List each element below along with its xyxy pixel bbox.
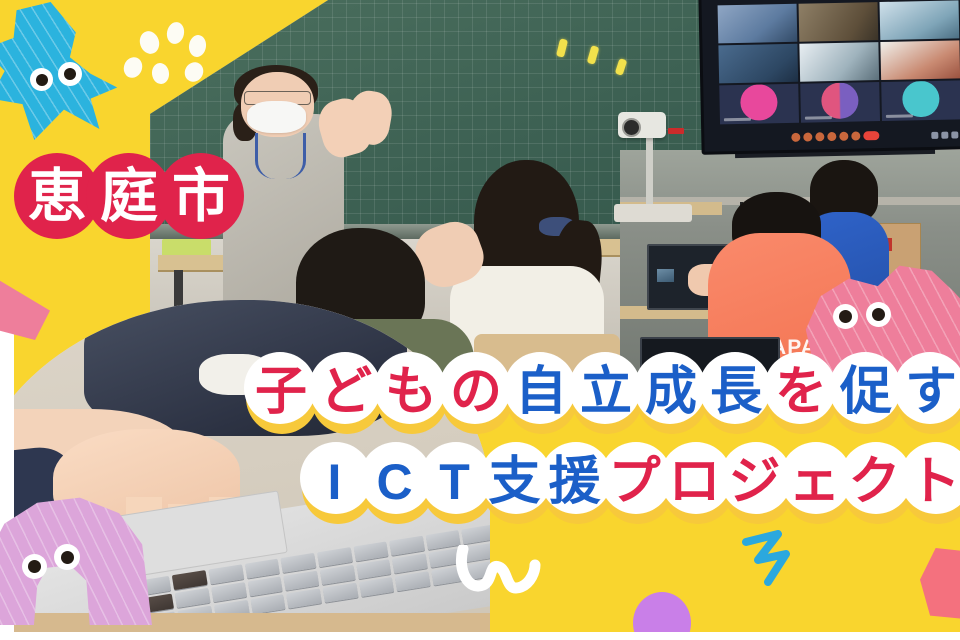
key [323, 582, 359, 602]
headline-char: 支 [480, 442, 549, 522]
video-tile [799, 42, 879, 82]
headline-char: ジ [720, 442, 789, 522]
end-call-icon[interactable] [863, 131, 879, 140]
more-icon[interactable] [851, 131, 860, 140]
settings-icon[interactable] [931, 132, 938, 139]
headline-char-glyph: C [376, 457, 412, 507]
headline-line-1: 子どもの自立成長を促す [0, 352, 960, 432]
headline-char: ク [840, 442, 909, 522]
headline-char-glyph: 立 [580, 366, 632, 418]
headline-char-glyph: 成 [645, 366, 697, 418]
headline-char: 自 [504, 352, 578, 432]
headline-char-glyph: 支 [488, 456, 540, 508]
headline-char: ロ [660, 442, 729, 522]
headline-char: I [300, 442, 369, 522]
badge-character: 市 [158, 153, 244, 239]
headline-char-glyph: ト [908, 456, 960, 508]
key [356, 559, 392, 579]
headline-char-glyph: ロ [668, 456, 720, 508]
key [320, 565, 356, 585]
headline-char: 子 [244, 352, 318, 432]
headline-char: ト [900, 442, 960, 522]
headline-char-glyph: プ [608, 456, 660, 508]
share-icon[interactable] [815, 132, 824, 141]
headline-char: 援 [540, 442, 609, 522]
fullscreen-icon[interactable] [951, 132, 958, 139]
headline-char: ェ [780, 442, 849, 522]
headline-char: 促 [829, 352, 903, 432]
bottom-white-margin [0, 632, 960, 640]
chalk-mark [555, 38, 568, 58]
key [359, 577, 395, 597]
network-icon [941, 132, 948, 139]
headline-char: C [360, 442, 429, 522]
headline-char-glyph: ク [848, 456, 900, 508]
headline-char: 立 [569, 352, 643, 432]
camera-indicator [668, 128, 684, 134]
camera-lens-icon [622, 118, 641, 137]
participant-name [805, 116, 832, 120]
headline-char: す [894, 352, 960, 432]
headline-char-glyph: ジ [728, 456, 780, 508]
avatar-tile [719, 84, 799, 124]
headline-char: プ [600, 442, 669, 522]
document-camera-base [614, 204, 692, 222]
headline-char-glyph: 自 [515, 366, 567, 418]
key [211, 582, 247, 602]
video-tile-grid [717, 0, 960, 124]
key [250, 594, 286, 614]
headline: 子どもの自立成長を促す ICT支援プロジェクト [0, 352, 960, 522]
chalk-mark [614, 58, 627, 76]
key [395, 571, 431, 591]
key [175, 587, 211, 607]
video-tile [718, 44, 798, 84]
participant-name [886, 115, 913, 119]
video-tile [798, 2, 878, 42]
headline-char: T [420, 442, 489, 522]
cyan-character-eye [58, 62, 82, 86]
video-tile [880, 41, 960, 81]
participants-icon[interactable] [827, 132, 836, 141]
participant-name [724, 118, 751, 122]
camera-icon[interactable] [803, 132, 812, 141]
headline-char: の [439, 352, 513, 432]
headline-char-glyph: I [328, 457, 342, 507]
key [392, 553, 428, 573]
pink-character-eye [866, 302, 891, 327]
blue-zigzag [742, 530, 814, 590]
municipality-badge: 恵 庭 市 [14, 153, 230, 239]
avatar [902, 81, 939, 118]
headline-char-glyph: 援 [548, 456, 600, 508]
headline-char-glyph: 子 [255, 366, 307, 418]
key [287, 588, 323, 608]
pink-character-eye [833, 304, 858, 329]
headline-line-2: ICT支援プロジェクト [0, 442, 960, 522]
avatar-tile [881, 81, 960, 121]
headline-char: ど [309, 352, 383, 432]
headline-char-glyph: ェ [788, 456, 840, 508]
headline-char-glyph: 促 [840, 366, 892, 418]
teacher-lanyard [255, 133, 306, 179]
headline-char: も [374, 352, 448, 432]
lavender-character-eye [54, 544, 80, 570]
chat-icon[interactable] [839, 131, 848, 140]
teacher-face-mask [247, 101, 305, 133]
headline-char-glyph: 長 [710, 366, 762, 418]
headline-char-glyph: T [439, 457, 470, 507]
cyan-character-eye [30, 68, 53, 91]
lavender-character-eye [22, 554, 47, 579]
headline-char-glyph: も [385, 366, 437, 418]
avatar-tile [800, 82, 880, 122]
headline-char-glyph: す [905, 366, 957, 418]
video-tile [717, 4, 797, 44]
headline-char: 成 [634, 352, 708, 432]
key [248, 576, 284, 596]
headline-char-glyph: を [775, 366, 827, 418]
headline-char-glyph: ど [320, 366, 372, 418]
laptop-screen [657, 269, 673, 281]
banner-root: JAPAN [0, 0, 960, 640]
headline-char: 長 [699, 352, 773, 432]
chalk-mark [586, 45, 599, 65]
video-conference-display [698, 0, 960, 155]
display-status-icons [901, 128, 959, 143]
mic-icon[interactable] [791, 132, 800, 141]
video-tile [879, 0, 959, 40]
white-squiggle [455, 545, 555, 603]
key [284, 570, 320, 590]
avatar [821, 82, 858, 119]
headline-char: を [764, 352, 838, 432]
headline-char-glyph: の [450, 366, 502, 418]
avatar [740, 84, 777, 121]
